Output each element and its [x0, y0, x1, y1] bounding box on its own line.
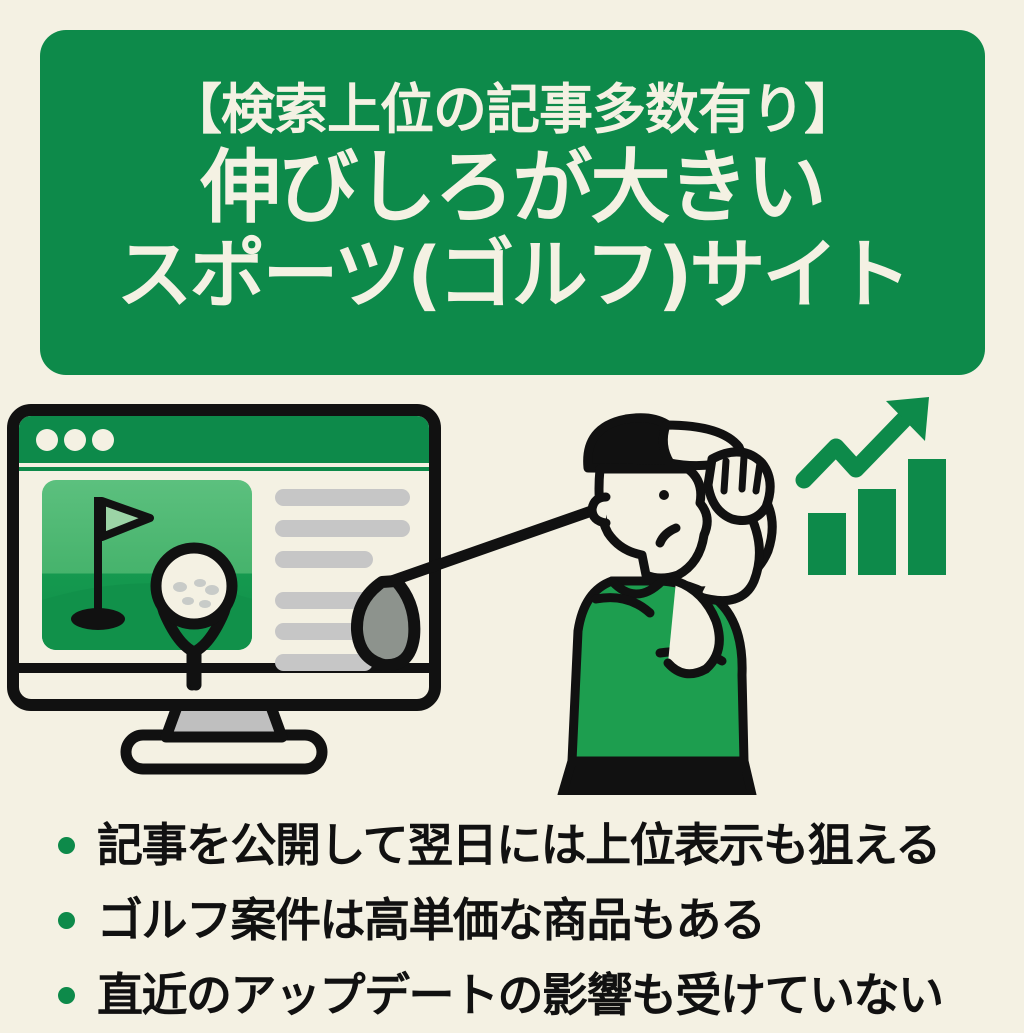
bullet-dot-icon: [58, 837, 75, 854]
golfer-finger-3: [756, 463, 760, 491]
golfer-ear: [592, 497, 606, 523]
growth-bar-3: [908, 459, 946, 575]
bullet-text-1: 記事を公開して翌日には上位表示も狙える: [97, 821, 940, 869]
browser-dot-2: [64, 429, 86, 451]
growth-bar-2: [858, 489, 896, 575]
growth-arrow-line: [804, 407, 916, 480]
header-headline-line2: スポーツ(ゴルフ)サイト: [117, 232, 909, 317]
golfer-illustration: [562, 418, 772, 795]
browser-dot-3: [92, 429, 114, 451]
bullet-dot-icon: [58, 987, 75, 1004]
bullet-dot-icon: [58, 912, 75, 929]
golfer-shirt: [572, 581, 744, 761]
golfer-head: [599, 469, 707, 578]
growth-chart-illustration: [804, 397, 946, 575]
golfer-eye: [659, 490, 669, 500]
header-headline-line1: 伸びしろが大きい: [201, 143, 825, 233]
golfer-finger-1: [724, 461, 726, 491]
bullet-item-3: 直近のアップデートの影響も受けていない: [58, 958, 1018, 1033]
bullet-item-2: ゴルフ案件は高単価な商品もある: [58, 883, 1018, 958]
bullet-list: 記事を公開して翌日には上位表示も狙える ゴルフ案件は高単価な商品もある 直近のア…: [58, 808, 1018, 1033]
bullet-text-2: ゴルフ案件は高単価な商品もある: [97, 896, 765, 944]
bullet-text-3: 直近のアップデートの影響も受けていない: [97, 971, 943, 1019]
header-panel: 【検索上位の記事多数有り】 伸びしろが大きい スポーツ(ゴルフ)サイト: [40, 30, 985, 375]
text-line: [275, 520, 410, 537]
text-line: [275, 489, 410, 506]
growth-bar-1: [808, 513, 846, 575]
bullet-item-1: 記事を公開して翌日には上位表示も狙える: [58, 808, 1018, 883]
club-head: [357, 581, 414, 665]
illustration-area: [0, 385, 1024, 795]
golfer-finger-2: [742, 457, 744, 489]
header-kicker: 【検索上位の記事多数有り】: [168, 82, 857, 137]
golfer-pants: [562, 761, 752, 795]
browser-dot-1: [36, 429, 58, 451]
text-line: [275, 551, 373, 568]
text-line: [275, 654, 373, 671]
